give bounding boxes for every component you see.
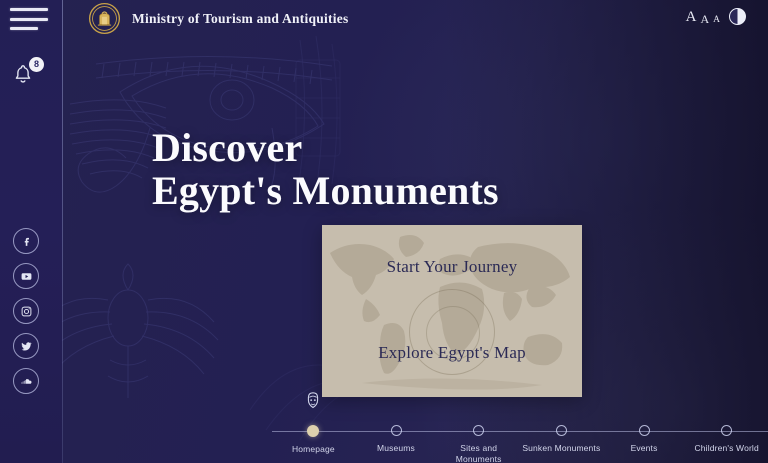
youtube-icon	[20, 270, 33, 283]
hero-line-1: Discover	[152, 125, 302, 170]
font-size-controls[interactable]: A A A	[686, 10, 720, 25]
explore-map-label[interactable]: Explore Egypt's Map	[378, 343, 526, 363]
timeline-item-sites-and-monuments[interactable]: Sites and Monuments	[437, 405, 520, 463]
hamburger-bar-3	[10, 27, 38, 30]
contrast-toggle-icon[interactable]	[729, 8, 746, 25]
hamburger-menu-icon[interactable]	[10, 8, 48, 30]
timeline-dot	[721, 425, 732, 436]
header-tools: A A A	[686, 8, 746, 25]
timeline-item-children-s-world[interactable]: Children's World	[685, 405, 768, 454]
timeline-item-museums[interactable]: Museums	[355, 405, 438, 454]
timeline-dot	[473, 425, 484, 436]
site-title: Ministry of Tourism and Antiquities	[132, 11, 349, 27]
ministry-emblem-icon	[88, 2, 121, 35]
social-instagram-button[interactable]	[13, 298, 39, 324]
timeline-label: Museums	[377, 443, 415, 454]
hero-heading: Discover Egypt's Monuments	[152, 126, 499, 212]
hero-line-2: Egypt's Monuments	[152, 168, 499, 213]
pharaoh-head-icon	[302, 391, 324, 413]
timeline-items: HomepageMuseumsSites and MonumentsSunken…	[272, 405, 768, 463]
page-root: Ministry of Tourism and Antiquities A A …	[0, 0, 768, 463]
start-journey-label[interactable]: Start Your Journey	[387, 257, 518, 277]
social-links	[13, 228, 39, 394]
social-youtube-button[interactable]	[13, 263, 39, 289]
timeline-dot	[556, 425, 567, 436]
soundcloud-icon	[20, 375, 33, 388]
map-card[interactable]: Start Your Journey Explore Egypt's Map	[322, 225, 582, 397]
timeline-nav: HomepageMuseumsSites and MonumentsSunken…	[272, 405, 768, 463]
social-facebook-button[interactable]	[13, 228, 39, 254]
social-soundcloud-button[interactable]	[13, 368, 39, 394]
twitter-icon	[20, 340, 33, 353]
timeline-dot	[391, 425, 402, 436]
timeline-label: Sunken Monuments	[522, 443, 600, 454]
hamburger-bar-1	[10, 8, 48, 11]
timeline-item-events[interactable]: Events	[603, 405, 686, 454]
timeline-label: Homepage	[292, 444, 335, 455]
timeline-item-sunken-monuments[interactable]: Sunken Monuments	[520, 405, 603, 454]
font-size-medium[interactable]: A	[700, 13, 709, 25]
vertical-divider	[62, 0, 63, 463]
social-twitter-button[interactable]	[13, 333, 39, 359]
font-size-small[interactable]: A	[713, 16, 720, 26]
timeline-label: Events	[631, 443, 658, 454]
timeline-label: Children's World	[695, 443, 759, 454]
hamburger-bar-2	[10, 18, 48, 21]
timeline-dot	[639, 425, 650, 436]
site-header: Ministry of Tourism and Antiquities A A …	[0, 0, 768, 38]
font-size-large[interactable]: A	[686, 10, 697, 25]
timeline-dot	[307, 425, 319, 437]
timeline-label: Sites and Monuments	[456, 443, 502, 463]
instagram-icon	[20, 305, 33, 318]
notifications-button[interactable]: 8	[12, 58, 42, 88]
facebook-icon	[20, 235, 33, 248]
timeline-item-homepage[interactable]: Homepage	[272, 405, 355, 455]
notification-badge: 8	[29, 57, 44, 72]
brand[interactable]: Ministry of Tourism and Antiquities	[88, 2, 349, 35]
